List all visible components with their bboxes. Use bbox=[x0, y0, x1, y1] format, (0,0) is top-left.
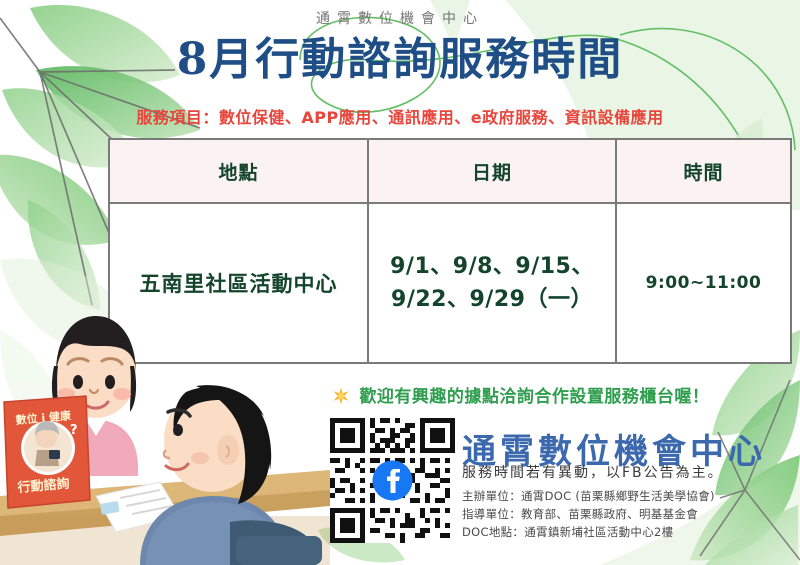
column-header-place: 地點 bbox=[109, 139, 368, 203]
desk-poster-icon: ? 數位 i 健康 行動諮詢 bbox=[4, 396, 90, 508]
consultation-scene-illustration: ? 數位 i 健康 行動諮詢 bbox=[0, 300, 340, 565]
cell-date-line-1: 9/1、9/8、9/15、 bbox=[369, 250, 615, 283]
credit-line-organizer: 主辦單位：通霄DOC (苗栗縣鄉野生活美學協會) bbox=[462, 488, 715, 506]
sparkle-star-icon bbox=[332, 387, 350, 410]
column-header-time: 時間 bbox=[616, 139, 791, 203]
cell-date: 9/1、9/8、9/15、 9/22、9/29（一） bbox=[368, 203, 616, 363]
cell-time: 9:00~11:00 bbox=[616, 203, 791, 363]
service-items-line: 服務項目：數位保健、APP應用、通訊應用、e政府服務、資訊設備應用 bbox=[0, 104, 800, 128]
invite-line: 歡迎有興趣的據點洽詢合作設置服務櫃台喔！ bbox=[332, 382, 792, 410]
credit-line-advisor: 指導單位：教育部、苗栗縣政府、明基基金會 bbox=[462, 506, 715, 524]
column-header-date: 日期 bbox=[368, 139, 616, 203]
table-header-row: 地點 日期 時間 bbox=[109, 139, 791, 203]
cell-date-line-2: 9/22、9/29（一） bbox=[369, 283, 615, 316]
credit-line-location: DOC地點：通霄鎮新埔社區活動中心2樓 bbox=[462, 524, 715, 542]
org-header: 通霄數位機會中心 bbox=[0, 8, 800, 28]
poster-canvas: 通霄數位機會中心 8月行動諮詢服務時間 服務項目：數位保健、APP應用、通訊應用… bbox=[0, 0, 800, 565]
notice-text: 服務時間若有異動，以FB公告為主。 bbox=[462, 462, 724, 482]
qr-code-facebook[interactable] bbox=[330, 418, 455, 543]
credits-block: 主辦單位：通霄DOC (苗栗縣鄉野生活美學協會) 指導單位：教育部、苗栗縣政府、… bbox=[462, 488, 715, 541]
invite-text: 歡迎有興趣的據點洽詢合作設置服務櫃台喔！ bbox=[359, 387, 709, 407]
svg-text:?: ? bbox=[70, 423, 78, 438]
page-title: 8月行動諮詢服務時間 bbox=[0, 37, 800, 83]
